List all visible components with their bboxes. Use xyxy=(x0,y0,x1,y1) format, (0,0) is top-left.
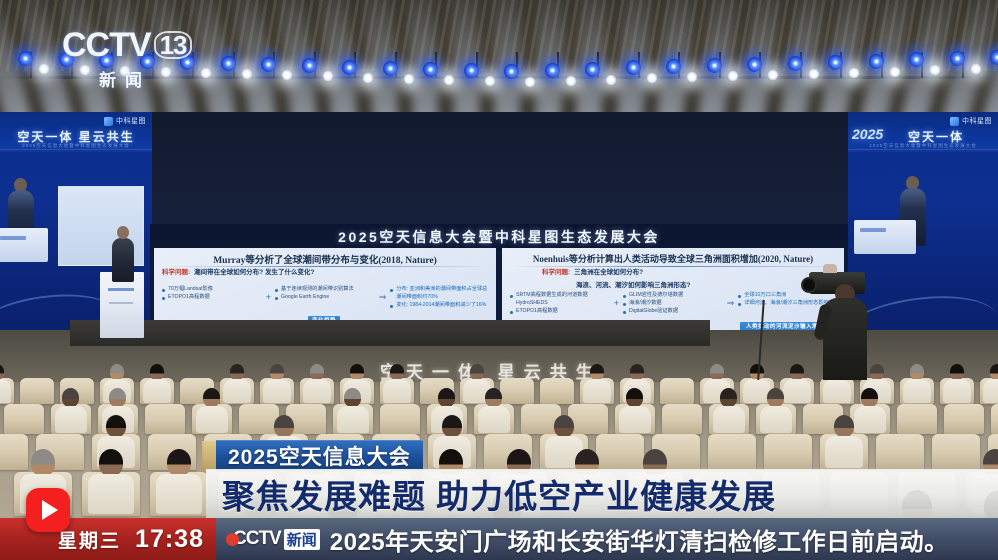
audience-person xyxy=(767,388,784,407)
audience-person-body xyxy=(903,379,930,402)
audience-person xyxy=(990,364,998,380)
audience-person-body xyxy=(478,406,510,433)
audience-person-body xyxy=(619,406,651,433)
question-label: 科学问题: xyxy=(542,269,570,278)
bullets-data-left: 70万幅Landsat影像 ETOPO1高程数据 xyxy=(162,286,262,302)
white-lamp-icon xyxy=(241,68,253,80)
lower-third-tag-label: 2025空天信息大会 xyxy=(228,441,411,471)
brand-name-left: 中科星图 xyxy=(116,116,146,126)
white-lamp-icon xyxy=(200,67,212,79)
blue-lamp-icon xyxy=(504,64,519,79)
lower-third-headline: 聚焦发展难题 助力低空产业健康发展 xyxy=(206,469,998,518)
brand-name-right: 中科星图 xyxy=(962,116,992,126)
play-icon[interactable] xyxy=(26,488,70,532)
audience-person-body xyxy=(196,406,228,433)
list-item: 分布: 亚洲和美洲的潮间带面积占全球总潮间带面积约70% xyxy=(390,286,490,302)
audience-person xyxy=(626,388,643,407)
white-lamp-icon xyxy=(79,64,91,76)
audience-person xyxy=(442,415,462,438)
lower-third-tag: 2025空天信息大会 xyxy=(216,440,423,471)
audience-person xyxy=(861,388,878,407)
blue-lamp-icon xyxy=(18,51,33,66)
audience-person xyxy=(554,415,574,438)
plus-operator-icon: + xyxy=(266,291,271,305)
list-item: Google Earth Engine xyxy=(275,294,375,302)
audience-chair xyxy=(944,404,984,434)
main-speaker-head xyxy=(117,226,129,239)
conference-banner: 2025空天信息大会暨中科星图生态发展大会 xyxy=(150,224,848,250)
list-item: ETOPO1高程数据 xyxy=(162,294,262,302)
white-lamp-icon xyxy=(686,71,698,83)
audience-person xyxy=(910,364,924,380)
question-text-2: 海浪、河流、潮汐如何影响三角洲形态? xyxy=(542,282,690,291)
white-lamp-icon xyxy=(484,75,496,87)
arrow-operator-icon: ⇒ xyxy=(727,297,735,311)
audience-person xyxy=(390,364,404,380)
audience-person-body xyxy=(263,379,290,402)
audience-chair xyxy=(145,404,185,434)
slide-right-title: Noenhuis等分析计算出人类活动导致全球三角洲面积增加(2020, Natu… xyxy=(508,252,838,265)
play-triangle-icon xyxy=(42,500,58,520)
slide-left-rule xyxy=(162,266,488,267)
list-item: SRTM高程数据生成的河道数据HydroSHEDS xyxy=(510,292,610,308)
audience-person xyxy=(350,364,364,380)
audience-person xyxy=(710,364,724,380)
news-ticker: 星期三 17:38 CCTV 新闻 2025年天安门广场和长安街华灯清扫检修工作… xyxy=(0,518,998,560)
audience-person xyxy=(230,364,244,380)
audience-chair xyxy=(239,404,279,434)
audience-person xyxy=(590,364,604,380)
audience-chair xyxy=(20,378,54,404)
arrow-operator-icon: ⇒ xyxy=(379,291,387,305)
lower-third-headline-text: 聚焦发展难题 助力低空产业健康发展 xyxy=(222,470,776,518)
white-lamp-icon xyxy=(646,72,658,84)
ticker-logo-cctv: CCTV xyxy=(233,528,281,550)
broadcast-screen: 中科星图 空天一体 星云共生 2025空天信息大会暨中科星图生态发展大会 中科星… xyxy=(0,0,998,560)
blue-lamp-icon xyxy=(59,52,74,67)
brand-mark-icon xyxy=(104,117,113,126)
ceiling-lighting-rig xyxy=(0,0,998,118)
blue-lamp-icon xyxy=(828,55,843,70)
lower-third: 2025空天信息大会 聚焦发展难题 助力低空产业健康发展 xyxy=(0,440,998,518)
audience-person xyxy=(438,388,455,407)
audience-chair xyxy=(662,404,702,434)
slide-left-question: 科学问题: 潮间带在全球如何分布? 发生了什么变化? xyxy=(162,269,490,278)
audience-person xyxy=(62,388,79,407)
stage-front-edge xyxy=(70,320,710,346)
bullets-data-right: SRTM高程数据生成的河道数据HydroSHEDS ETOPO1高程数据 xyxy=(510,292,610,315)
slide-right-rule xyxy=(510,266,836,267)
audience-person-body xyxy=(783,379,810,402)
ticker-logo-news: 新闻 xyxy=(284,529,320,550)
ticker-headline: 2025年天安门广场和长安街华灯清扫检修工作日前启动。 xyxy=(330,522,949,557)
podium-left xyxy=(0,228,48,262)
blue-lamp-icon xyxy=(788,56,803,71)
blue-lamp-icon xyxy=(707,58,722,73)
light-beam xyxy=(575,0,608,118)
audience-person xyxy=(950,364,964,380)
white-lamp-icon xyxy=(160,66,172,78)
audience-person xyxy=(270,364,284,380)
audience-person xyxy=(790,364,804,380)
white-lamp-icon xyxy=(403,73,415,85)
audience-person-body xyxy=(223,379,250,402)
blue-lamp-icon xyxy=(869,54,884,69)
audience-person xyxy=(485,388,502,407)
bullets-method-left: 基于连续观测的潮间带识别算法 Google Earth Engine xyxy=(275,286,375,302)
audience-person xyxy=(106,415,126,438)
blue-lamp-icon xyxy=(180,55,195,70)
blue-lamp-icon xyxy=(585,62,600,77)
audience-person-body xyxy=(0,379,11,402)
white-lamp-icon xyxy=(38,63,50,75)
blue-lamp-icon xyxy=(423,62,438,77)
blue-lamp-icon xyxy=(950,51,965,66)
bullets-method-right: GLIM岩性及德尔塔数据 海浪/潮汐数据 DigitalGlobe验证数据 xyxy=(623,292,723,315)
audience-person-body xyxy=(823,379,850,402)
blue-lamp-icon xyxy=(221,56,236,71)
audience-person-body xyxy=(143,379,170,402)
side-sub-right: 2025空天信息大会暨中科星图生态发展大会 xyxy=(848,143,998,149)
white-lamp-icon xyxy=(605,74,617,86)
audience-chair xyxy=(897,404,937,434)
white-lamp-icon xyxy=(443,74,455,86)
blue-lamp-icon xyxy=(99,53,114,68)
ticker-logo-dot-icon xyxy=(226,533,239,546)
audience-person xyxy=(109,388,126,407)
blue-lamp-icon xyxy=(302,58,317,73)
audience-person xyxy=(203,388,220,407)
audience-person-body xyxy=(55,406,87,433)
question-label: 科学问题: xyxy=(162,269,190,278)
white-lamp-icon xyxy=(119,65,131,77)
list-item: 70万幅Landsat影像 xyxy=(162,286,262,294)
audience-person-body xyxy=(854,406,886,433)
audience-chair xyxy=(380,404,420,434)
audience-person-body xyxy=(303,379,330,402)
light-beam xyxy=(535,0,565,118)
ticker-time: 17:38 xyxy=(135,525,204,554)
audience-person-body xyxy=(943,379,970,402)
white-lamp-icon xyxy=(727,70,739,82)
audience-chair xyxy=(4,404,44,434)
ticker-weekday: 星期三 xyxy=(58,526,121,553)
list-item: ETOPO1高程数据 xyxy=(510,308,610,316)
white-lamp-icon xyxy=(970,63,982,75)
audience-person xyxy=(110,364,124,380)
slide-right-bullets: SRTM高程数据生成的河道数据HydroSHEDS ETOPO1高程数据 + G… xyxy=(510,292,838,315)
audience-person-body xyxy=(383,379,410,402)
list-item: 变化: 1984-2014潮间带面积减少了16% xyxy=(390,302,490,310)
white-lamp-icon xyxy=(929,64,941,76)
audience-chair xyxy=(540,378,574,404)
slide-right-question: 科学问题: 三角洲在全球如何分布? 海浪、河流、潮汐如何影响三角洲形态? xyxy=(542,269,838,291)
bullets-result-left: 分布: 亚洲和美洲的潮间带面积占全球总潮间带面积约70% 变化: 1984-20… xyxy=(390,286,490,309)
blue-lamp-icon xyxy=(545,63,560,78)
audience-person xyxy=(344,388,361,407)
audience-person-body xyxy=(983,379,998,402)
brand-logo-right: 中科星图 xyxy=(950,116,992,126)
blue-lamp-icon xyxy=(383,61,398,76)
audience-person-body xyxy=(583,379,610,402)
side-screen-right-header: 中科星图 2025 空天一体 2025空天信息大会暨中科星图生态发展大会 xyxy=(848,112,998,150)
audience-person xyxy=(274,415,294,438)
audience-person xyxy=(630,364,644,380)
ticker-text-block: CCTV 新闻 2025年天安门广场和长安街华灯清扫检修工作日前启动。 xyxy=(216,518,998,560)
audience-person-body xyxy=(713,406,745,433)
white-lamp-icon xyxy=(889,66,901,78)
ticker-logo: CCTV 新闻 xyxy=(226,528,320,550)
audience-person-body xyxy=(760,406,792,433)
white-lamp-icon xyxy=(322,70,334,82)
list-item: 基于连续观测的潮间带识别算法 xyxy=(275,286,375,294)
white-lamp-icon xyxy=(808,68,820,80)
plus-operator-icon: + xyxy=(614,297,619,311)
audience-person xyxy=(720,388,737,407)
white-lamp-icon xyxy=(362,72,374,84)
audience-person-body xyxy=(337,406,369,433)
question-text-1: 三角洲在全球如何分布? xyxy=(574,269,643,278)
audience-chair xyxy=(660,378,694,404)
side-sub-left: 2025空天信息大会暨中科星图生态发展大会 xyxy=(0,143,152,149)
blue-lamp-icon xyxy=(140,54,155,69)
question-text: 潮间带在全球如何分布? 发生了什么变化? xyxy=(194,269,314,278)
audience-person xyxy=(150,364,164,380)
side-screen-left-header: 中科星图 空天一体 星云共生 2025空天信息大会暨中科星图生态发展大会 xyxy=(0,112,152,150)
audience-chair xyxy=(500,378,534,404)
slide-left-bullets: 70万幅Landsat影像 ETOPO1高程数据 + 基于连续观测的潮间带识别算… xyxy=(162,286,490,309)
audience-person xyxy=(310,364,324,380)
white-lamp-icon xyxy=(524,76,536,88)
brand-logo-left: 中科星图 xyxy=(104,116,146,126)
white-lamp-icon xyxy=(565,75,577,87)
audience-chair xyxy=(991,404,998,434)
slide-left-title: Murray等分析了全球潮间带分布与变化(2018, Nature) xyxy=(160,252,490,266)
list-item: 海浪/潮汐数据 xyxy=(623,300,723,308)
blue-lamp-icon xyxy=(626,60,641,75)
list-item: GLIM岩性及德尔塔数据 xyxy=(623,292,723,300)
blue-lamp-icon xyxy=(747,57,762,72)
white-lamp-icon xyxy=(848,67,860,79)
podium-right xyxy=(854,220,916,254)
audience-person xyxy=(834,415,854,438)
brand-mark-icon xyxy=(950,117,959,126)
main-speaker-body xyxy=(112,238,134,282)
white-lamp-icon xyxy=(767,69,779,81)
blue-lamp-icon xyxy=(342,60,357,75)
audience-person xyxy=(470,364,484,380)
conference-banner-title: 2025空天信息大会暨中科星图生态发展大会 xyxy=(338,227,660,247)
cameraman xyxy=(815,270,877,380)
list-item: DigitalGlobe验证数据 xyxy=(623,308,723,316)
blue-lamp-icon xyxy=(464,63,479,78)
